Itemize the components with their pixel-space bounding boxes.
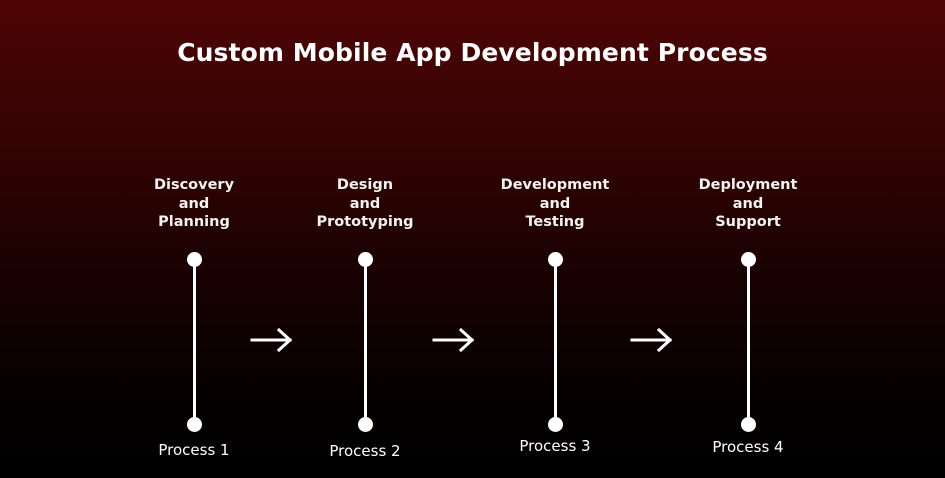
process-stage: Design and Prototyping: [265, 176, 465, 232]
stage-footer-label: Process 3: [455, 437, 655, 455]
stage-footer-label: Process 4: [648, 438, 848, 456]
stage-timeline-bar: [747, 259, 750, 424]
process-stage: Deployment and Support: [648, 176, 848, 232]
stage-timeline-bar: [193, 259, 196, 424]
stage-node-dot-top: [548, 252, 563, 267]
stage-node-dot-bottom: [741, 417, 756, 432]
stage-node-dot-bottom: [548, 417, 563, 432]
stage-timeline-bar: [554, 259, 557, 424]
stage-heading: Design and Prototyping: [265, 176, 465, 232]
stage-node-dot-bottom: [358, 417, 373, 432]
stage-heading: Deployment and Support: [648, 176, 848, 232]
stage-footer-label: Process 1: [94, 441, 294, 459]
stage-node-dot-bottom: [187, 417, 202, 432]
process-stage: Discovery and Planning: [94, 176, 294, 232]
process-infographic: Custom Mobile App Development Process Di…: [0, 0, 945, 478]
stage-heading: Development and Testing: [455, 176, 655, 232]
stage-footer-label: Process 2: [265, 442, 465, 460]
stage-node-dot-top: [187, 252, 202, 267]
stage-heading: Discovery and Planning: [94, 176, 294, 232]
stage-timeline-bar: [364, 259, 367, 424]
arrow-right-icon: [250, 327, 294, 353]
page-title: Custom Mobile App Development Process: [0, 38, 945, 67]
stage-node-dot-top: [741, 252, 756, 267]
arrow-right-icon: [432, 327, 476, 353]
arrow-right-icon: [630, 327, 674, 353]
stage-node-dot-top: [358, 252, 373, 267]
process-stage: Development and Testing: [455, 176, 655, 232]
